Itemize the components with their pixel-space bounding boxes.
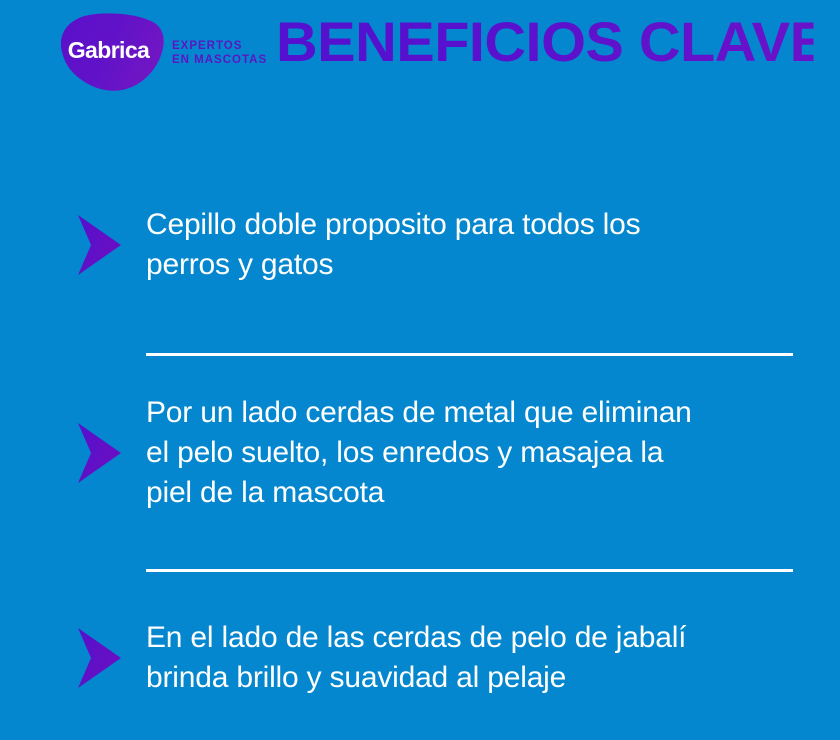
page-title: BENEFICIOS CLAVE	[276, 11, 814, 73]
list-item-label: Cepillo doble proposito para todos los p…	[146, 205, 802, 285]
brand-tagline: EXPERTOS EN MASCOTAS	[172, 40, 267, 67]
benefits-list: Cepillo doble proposito para todos los p…	[0, 100, 840, 740]
list-item-label: Por un lado cerdas de metal que eliminan…	[146, 393, 802, 513]
gabrica-logo: Gabrica	[52, 8, 167, 93]
list-item: Cepillo doble proposito para todos los p…	[72, 205, 802, 285]
list-item-label: En el lado de las cerdas de pelo de jaba…	[146, 618, 802, 698]
arrow-chevron-right-icon	[72, 623, 126, 693]
divider	[146, 353, 793, 356]
arrow-chevron-right-icon	[72, 210, 126, 280]
header-bar: Gabrica EXPERTOS EN MASCOTAS BENEFICIOS …	[0, 0, 840, 100]
logo-wordmark: Gabrica	[52, 8, 167, 93]
arrow-chevron-right-icon	[72, 418, 126, 488]
list-item: Por un lado cerdas de metal que eliminan…	[72, 393, 802, 513]
divider	[146, 569, 793, 572]
list-item: En el lado de las cerdas de pelo de jaba…	[72, 618, 802, 698]
